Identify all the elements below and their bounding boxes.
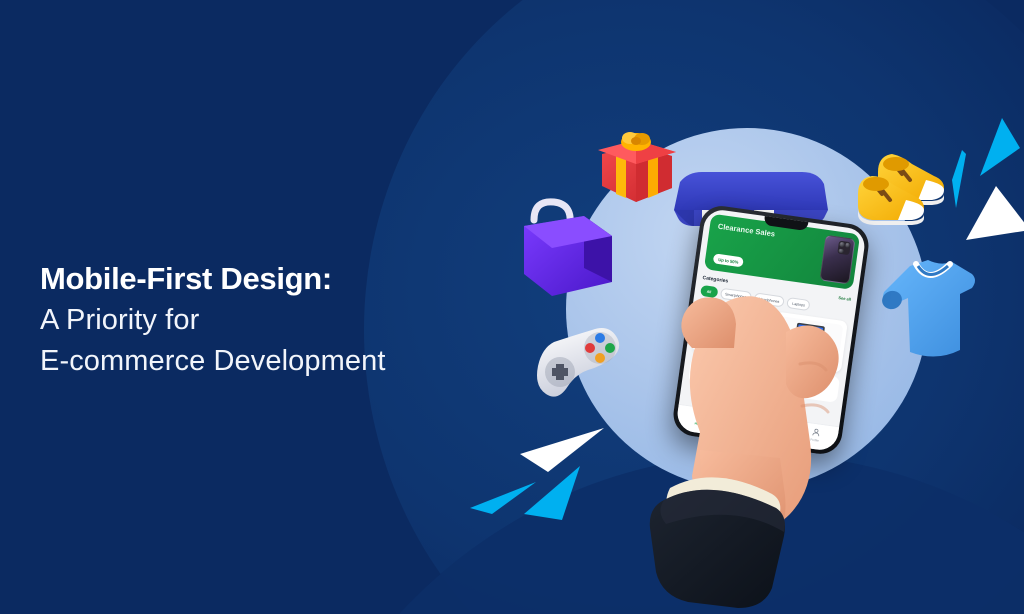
headline-line-3: E-commerce Development [40, 341, 560, 382]
triangle-white-right [966, 186, 1024, 240]
banner-stage: Mobile-First Design: A Priority for E-co… [0, 0, 1024, 614]
triangle-cyan-bottom [522, 466, 584, 520]
headline-line-1: Mobile-First Design: [40, 258, 560, 300]
shopping-bag [514, 196, 618, 304]
gift-box [592, 124, 678, 206]
triangle-cyan-top-right [980, 118, 1020, 180]
headline: Mobile-First Design: A Priority for E-co… [40, 258, 560, 382]
sneakers [856, 140, 956, 228]
hand-holding-phone [604, 236, 904, 614]
headline-line-2: A Priority for [40, 300, 560, 341]
